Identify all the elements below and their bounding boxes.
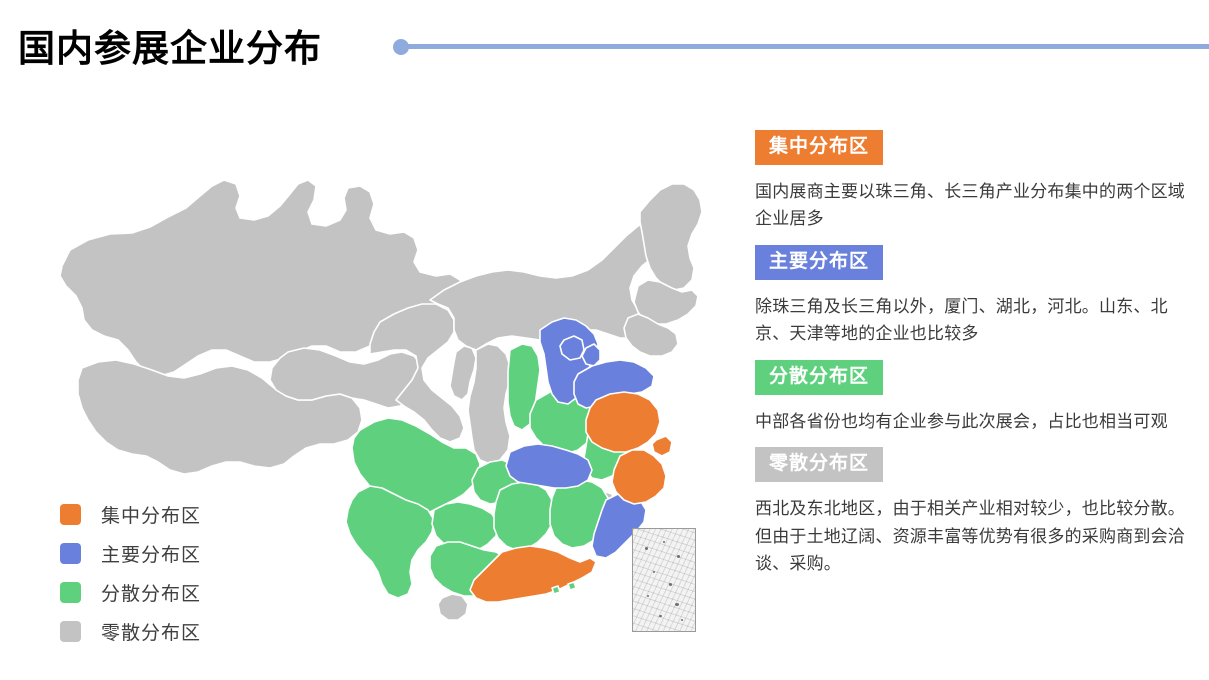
- info-text-concentrated: 国内展商主要以珠三角、长三角产业分布集中的两个区域企业居多: [755, 178, 1185, 233]
- info-paragraph: 国内展商主要以珠三角、长三角产业分布集中的两个区域企业居多: [755, 178, 1185, 233]
- china-map-panel: 集中分布区 主要分布区 分散分布区 零散分布区: [40, 100, 730, 670]
- info-text-scattered: 西北及东北地区，由于相关产业相对较少，也比较分散。但由于土地辽阔、资源丰富等优势…: [755, 495, 1185, 578]
- province-hunan[interactable]: [494, 482, 554, 550]
- inset-speck: [681, 619, 683, 621]
- info-paragraph: 除珠三角及长三角以外，厦门、湖北，河北。山东、北京、天津等地的企业也比较多: [755, 293, 1185, 348]
- color-swatch-icon: [60, 582, 81, 603]
- province-coastal-speck-b: [568, 582, 576, 590]
- title-accent-rule: [398, 44, 1209, 49]
- inset-speck: [645, 547, 648, 550]
- color-swatch-icon: [60, 504, 81, 525]
- info-paragraph: 中部各省份也均有企业参与此次展会，占比也相当可观: [755, 408, 1185, 436]
- inset-speck: [663, 541, 665, 543]
- legend-item-label: 主要分布区: [101, 540, 201, 567]
- province-coastal-speck-a: [552, 586, 560, 594]
- province-hainan[interactable]: [438, 594, 468, 620]
- south-china-sea-inset-map[interactable]: [632, 528, 696, 632]
- info-block-concentrated: 集中分布区 国内展商主要以珠三角、长三角产业分布集中的两个区域企业居多: [755, 130, 1185, 233]
- info-text-dispersed: 中部各省份也均有企业参与此次展会，占比也相当可观: [755, 408, 1185, 436]
- distribution-info-column: 集中分布区 国内展商主要以珠三角、长三角产业分布集中的两个区域企业居多 主要分布…: [755, 130, 1185, 590]
- info-text-major: 除珠三角及长三角以外，厦门、湖北，河北。山东、北京、天津等地的企业也比较多: [755, 293, 1185, 348]
- inset-speck: [675, 603, 679, 606]
- color-swatch-icon: [60, 543, 81, 564]
- province-jiangsu[interactable]: [586, 392, 660, 452]
- legend-item-label: 集中分布区: [101, 501, 201, 528]
- legend-item-label: 分散分布区: [101, 579, 201, 606]
- legend-item-scattered[interactable]: 零散分布区: [60, 612, 290, 651]
- page-title: 国内参展企业分布: [18, 18, 322, 72]
- inset-speck: [647, 595, 649, 597]
- info-badge-major: 主要分布区: [755, 245, 883, 280]
- legend-item-dispersed[interactable]: 分散分布区: [60, 573, 290, 612]
- info-paragraph: 西北及东北地区，由于相关产业相对较少，也比较分散。但由于土地辽阔、资源丰富等优势…: [755, 495, 1185, 578]
- legend-item-concentrated[interactable]: 集中分布区: [60, 495, 290, 534]
- province-heilongjiang[interactable]: [640, 184, 702, 290]
- info-block-dispersed: 分散分布区 中部各省份也均有企业参与此次展会，占比也相当可观: [755, 360, 1185, 435]
- province-shanghai[interactable]: [652, 436, 672, 456]
- page-header: 国内参展企业分布: [0, 0, 1209, 95]
- legend-item-label: 零散分布区: [101, 618, 201, 645]
- province-hubei[interactable]: [506, 444, 592, 488]
- info-block-scattered: 零散分布区 西北及东北地区，由于相关产业相对较少，也比较分散。但由于土地辽阔、资…: [755, 447, 1185, 577]
- inset-speck: [677, 555, 680, 558]
- legend-item-major[interactable]: 主要分布区: [60, 534, 290, 573]
- inset-speck: [659, 615, 662, 617]
- province-zhejiang[interactable]: [612, 450, 666, 504]
- map-legend: 集中分布区 主要分布区 分散分布区 零散分布区: [60, 495, 290, 651]
- inset-speck: [669, 583, 672, 586]
- info-badge-concentrated: 集中分布区: [755, 130, 883, 165]
- inset-speck: [653, 571, 655, 573]
- info-block-major: 主要分布区 除珠三角及长三角以外，厦门、湖北，河北。山东、北京、天津等地的企业也…: [755, 245, 1185, 348]
- info-badge-dispersed: 分散分布区: [755, 360, 883, 395]
- info-badge-scattered: 零散分布区: [755, 447, 883, 482]
- color-swatch-icon: [60, 621, 81, 642]
